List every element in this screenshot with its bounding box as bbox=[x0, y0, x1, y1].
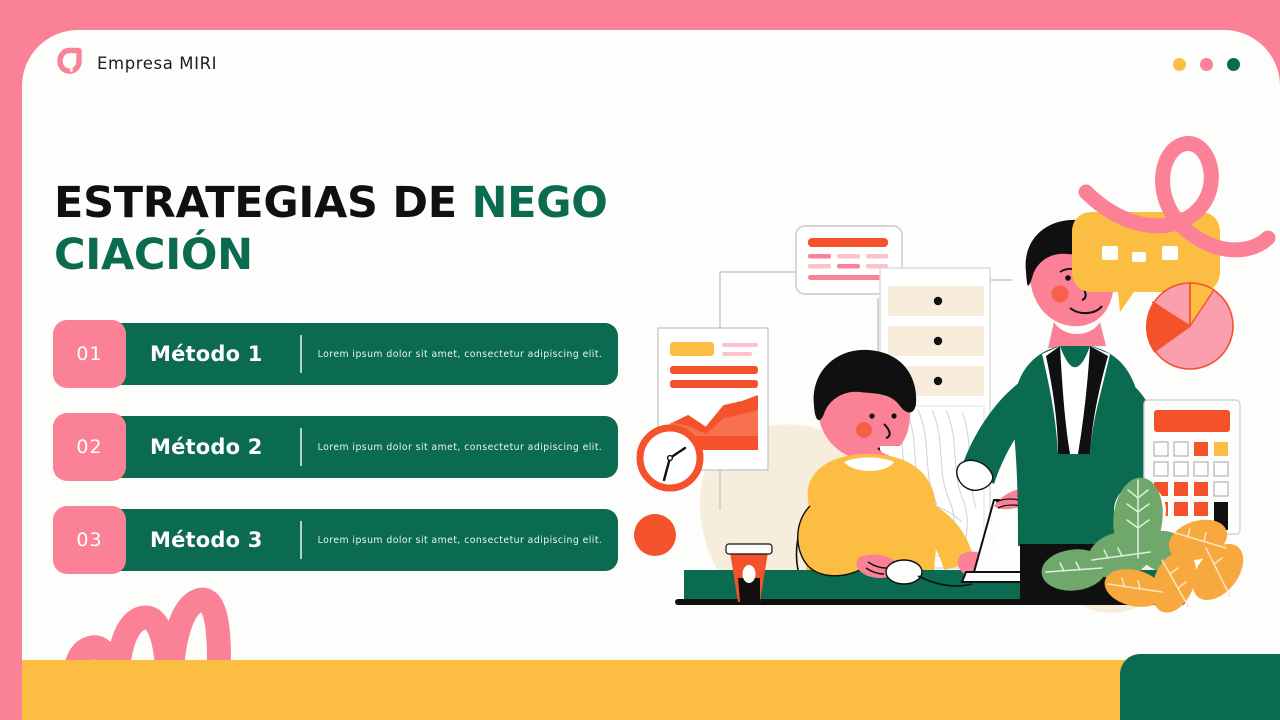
method-number-badge: 03 bbox=[53, 506, 126, 574]
slide-root: Empresa MIRI ESTRATEGIAS DE NEGO CIACIÓN… bbox=[0, 0, 1280, 720]
method-card-3[interactable]: 03 Método 3 Lorem ipsum dolor sit amet, … bbox=[53, 509, 618, 571]
method-description: Lorem ipsum dolor sit amet, consectetur … bbox=[302, 349, 618, 360]
dot-green bbox=[1227, 58, 1240, 71]
title-highlight-part2: CIACIÓN bbox=[54, 230, 253, 280]
card-divider bbox=[300, 335, 302, 373]
card-divider bbox=[300, 428, 302, 466]
clock-icon bbox=[640, 428, 700, 488]
method-description: Lorem ipsum dolor sit amet, consectetur … bbox=[302, 442, 618, 453]
method-card-2[interactable]: 02 Método 2 Lorem ipsum dolor sit amet, … bbox=[53, 416, 618, 478]
slide-white-canvas: Empresa MIRI ESTRATEGIAS DE NEGO CIACIÓN… bbox=[22, 30, 1280, 720]
title-plain-part: ESTRATEGIAS DE bbox=[54, 178, 471, 228]
brand-header: Empresa MIRI bbox=[56, 48, 217, 78]
dot-pink bbox=[1200, 58, 1213, 71]
card-divider bbox=[300, 521, 302, 559]
orange-circle bbox=[634, 514, 676, 556]
method-title: Método 1 bbox=[150, 342, 298, 366]
method-description: Lorem ipsum dolor sit amet, consectetur … bbox=[302, 535, 618, 546]
window-dots bbox=[1173, 58, 1240, 71]
title-highlight-part1: NEGO bbox=[471, 178, 607, 228]
miri-logo-icon bbox=[56, 48, 84, 78]
yellow-bottom-bar bbox=[22, 660, 1192, 720]
pink-cursive-e-squiggle-icon bbox=[1080, 118, 1270, 268]
method-number-badge: 02 bbox=[53, 413, 126, 481]
business-negotiation-illustration: $ bbox=[622, 210, 1262, 670]
dot-yellow bbox=[1173, 58, 1186, 71]
pie-chart bbox=[1146, 283, 1233, 369]
methods-list: 01 Método 1 Lorem ipsum dolor sit amet, … bbox=[53, 323, 618, 602]
method-number-badge: 01 bbox=[53, 320, 126, 388]
brand-name: Empresa MIRI bbox=[97, 54, 217, 73]
page-title: ESTRATEGIAS DE NEGO CIACIÓN bbox=[54, 177, 654, 282]
method-title: Método 2 bbox=[150, 435, 298, 459]
method-card-1[interactable]: 01 Método 1 Lorem ipsum dolor sit amet, … bbox=[53, 323, 618, 385]
green-corner-block bbox=[1120, 654, 1280, 720]
method-title: Método 3 bbox=[150, 528, 298, 552]
